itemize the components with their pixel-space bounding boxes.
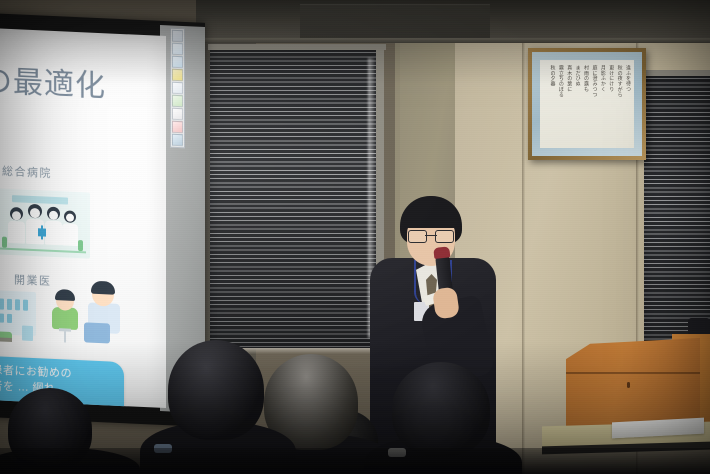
plant-icon <box>78 240 83 251</box>
doctor-patient-illustration <box>42 280 122 354</box>
slide-content: の最適化 総合病院 開業医 <box>0 28 166 408</box>
glasses-bridge <box>425 235 437 236</box>
staff-body <box>8 221 25 244</box>
calligraphy-column: 秋の夜すがら <box>616 65 621 97</box>
ceiling-soffit <box>300 4 490 38</box>
calligraphy-column: 月影ふかく <box>599 65 604 92</box>
calligraphy-column: 庭に澄みつつ <box>591 65 596 97</box>
capture-tool-icon[interactable] <box>172 134 183 146</box>
annotation-toolbar[interactable] <box>170 28 185 149</box>
presenter-hand <box>432 286 460 319</box>
clinic-window <box>0 298 4 309</box>
framed-calligraphy: 逢ふを待つ 秋の夜すがら 更けにけり 月影ふかく 庭に澄みつつ 村雨の露も まだ… <box>528 48 646 160</box>
clinic-window <box>23 300 28 311</box>
hospital-staff-illustration <box>0 188 90 258</box>
calligraphy-column: 更けにけり <box>608 65 613 92</box>
podium-seam <box>566 372 700 374</box>
slide-title: の最適化 <box>0 56 106 106</box>
clinic-door <box>22 326 33 341</box>
shape-tool-icon[interactable] <box>172 95 183 107</box>
calligraphy-column: 逢ふを待つ <box>625 65 630 92</box>
calligraphy-column: 秋の夕暮 <box>549 65 554 87</box>
illustration-ground <box>0 247 86 253</box>
window-header-right <box>642 70 710 76</box>
illustration-banner <box>12 195 68 205</box>
glasses-lens-left <box>408 230 427 243</box>
staff-body <box>62 223 78 246</box>
highlighter-tool-icon[interactable] <box>172 69 183 81</box>
staff-face <box>49 211 58 220</box>
front-row-seating <box>0 448 710 474</box>
wall-seam-left <box>522 0 525 474</box>
staff-face <box>66 214 74 222</box>
calligraphy-column: 真木の葉に <box>566 65 571 92</box>
clinic-building-illustration <box>0 286 38 344</box>
line-tool-icon[interactable] <box>172 82 183 94</box>
exam-chair <box>84 322 110 343</box>
patient-stool <box>59 328 71 332</box>
pointer-tool-icon[interactable] <box>172 43 183 55</box>
window-left <box>210 48 380 348</box>
presenter-glasses <box>408 230 454 241</box>
select-tool-icon[interactable] <box>172 30 183 42</box>
ceiling-edge <box>196 38 710 43</box>
calligraphy-column: まだひぬ <box>574 65 579 87</box>
medical-cross-icon <box>38 228 46 236</box>
attendee-head <box>392 362 490 456</box>
attendee-head <box>168 340 264 440</box>
staff-face <box>12 211 21 220</box>
projection-screen[interactable]: の最適化 総合病院 開業医 <box>0 28 166 408</box>
calligraphy-paper: 逢ふを待つ 秋の夜すがら 更けにけり 月影ふかく 庭に澄みつつ 村雨の露も まだ… <box>540 60 634 148</box>
patient-hair <box>55 289 75 301</box>
doctor-hair <box>91 281 115 295</box>
calligraphy-column: 村雨の露も <box>583 65 588 92</box>
staff-body <box>45 221 62 246</box>
frame-mat: 逢ふを待つ 秋の夜すがら 更けにけり 月影ふかく 庭に澄みつつ 村雨の露も まだ… <box>532 52 642 156</box>
podium-knob <box>627 382 630 388</box>
presentation-room-photo: 逢ふを待つ 秋の夜すがら 更けにけり 月影ふかく 庭に澄みつつ 村雨の露も まだ… <box>0 0 710 474</box>
presenter-fringe <box>401 206 461 228</box>
clinic-window <box>7 314 12 323</box>
stamp-tool-icon[interactable] <box>172 121 183 133</box>
calligraphy-column: 霧立ちのぼる <box>557 65 562 97</box>
clinic-path <box>0 337 12 342</box>
microphone-head <box>433 246 450 259</box>
pen-tool-icon[interactable] <box>172 56 183 68</box>
staff-face <box>30 208 40 218</box>
clinic-window <box>7 299 12 310</box>
slide-label-hospital: 総合病院 <box>2 163 52 181</box>
glasses-lens-right <box>435 230 454 243</box>
blinds-shading-left <box>210 48 380 348</box>
clinic-window <box>0 313 4 322</box>
clinic-window <box>15 299 20 310</box>
plant-icon <box>2 237 7 248</box>
eraser-tool-icon[interactable] <box>172 108 183 120</box>
window-header-left <box>208 44 386 50</box>
